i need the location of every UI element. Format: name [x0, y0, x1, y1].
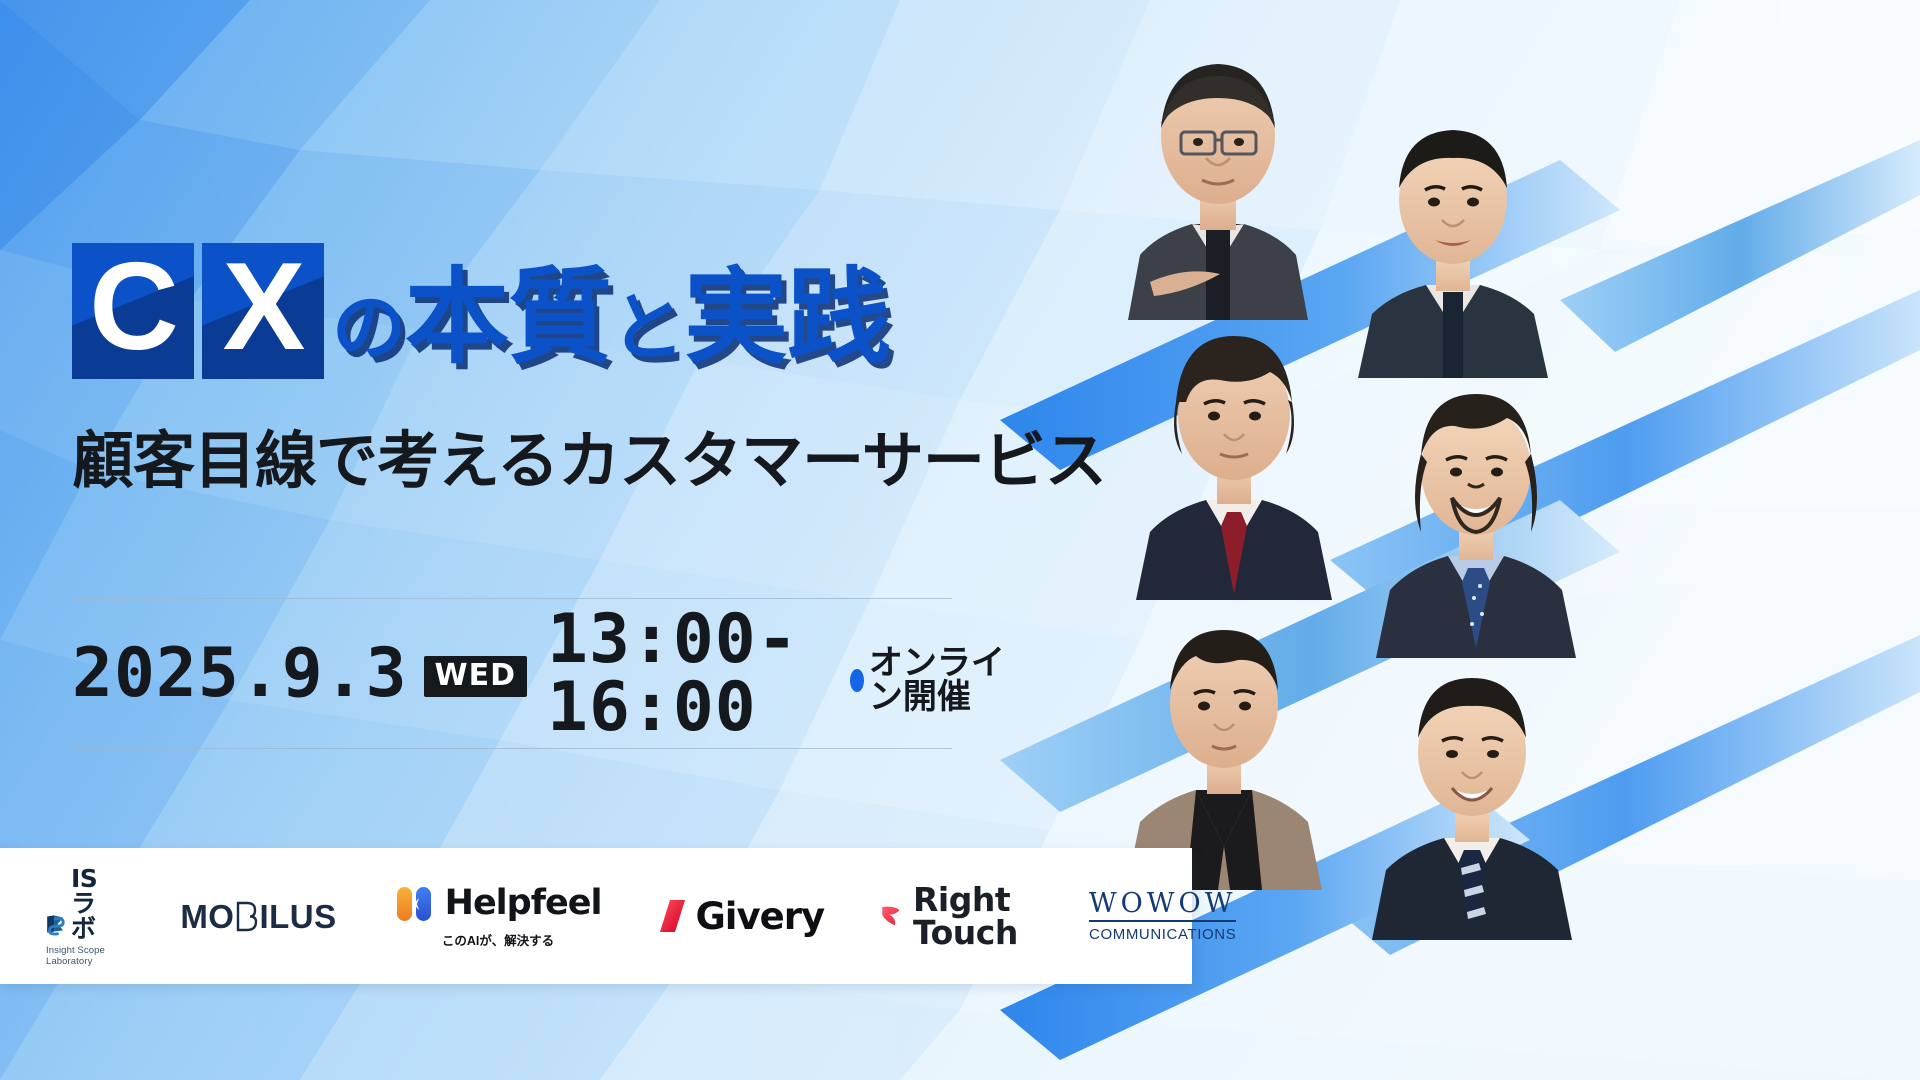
cx-badge-c-letter: C	[89, 245, 177, 369]
logo-islabo-tagline: Insight Scope Laboratory	[46, 945, 114, 967]
weekday-badge: WED	[424, 656, 528, 697]
logo-helpfeel-tagline: このAIが、解決する	[442, 930, 554, 949]
logo-givery: Givery	[659, 898, 824, 935]
speaker-photo-3	[1110, 300, 1360, 600]
speaker-photo-5	[1100, 590, 1350, 890]
islabo-mark-icon	[46, 907, 69, 941]
logo-wowow-text: WOWOW	[1089, 889, 1237, 923]
cx-badge-x-letter: X	[223, 245, 304, 369]
cx-badge-c: C	[72, 243, 194, 379]
banner-content: C X の本質と実践 顧客目線で考えるカスタマーサービス 2025.9.3 WE…	[0, 0, 1010, 1080]
logo-islabo: ISラボ Insight Scope Laboratory	[46, 866, 114, 967]
logo-righttouch: Right Touch	[880, 883, 1035, 949]
righttouch-mark-icon	[880, 896, 903, 936]
sponsor-logo-bar: ISラボ Insight Scope Laboratory MO ILUS	[0, 848, 1192, 984]
bullet-dot-icon	[850, 669, 864, 692]
speaker-photo-4	[1352, 358, 1602, 658]
logo-mobilus-text-c: ILUS	[259, 900, 336, 933]
logo-givery-text: Givery	[695, 898, 824, 935]
title-particle-no: の	[332, 285, 405, 371]
event-time: 13:00-16:00	[547, 606, 824, 742]
logo-mobilus-b-icon	[235, 901, 258, 932]
logo-helpfeel-text: Helpfeel	[445, 886, 602, 921]
speaker-photo-2	[1330, 88, 1580, 378]
event-format: オンライン開催	[850, 646, 1010, 714]
event-format-label: オンライン開催	[869, 646, 1010, 714]
title-word-jissen: 実践	[684, 256, 890, 378]
cx-badge-x: X	[202, 243, 324, 379]
main-title-row: C X の本質と実践	[72, 243, 890, 379]
givery-mark-icon	[659, 899, 686, 933]
logo-mobilus: MO ILUS	[180, 900, 336, 933]
helpfeel-mark-icon	[395, 884, 437, 924]
logo-mobilus-text-a: MO	[180, 900, 234, 933]
logo-islabo-text: ISラボ	[71, 866, 114, 941]
event-datetime-row: 2025.9.3 WED 13:00-16:00 オンライン開催	[72, 620, 1010, 728]
speaker-photo-1	[1088, 20, 1348, 320]
webinar-banner: C X の本質と実践 顧客目線で考えるカスタマーサービス 2025.9.3 WE…	[0, 0, 1920, 1080]
page-subtitle: 顧客目線で考えるカスタマーサービス	[72, 430, 1106, 492]
speaker-photo-6	[1348, 640, 1598, 940]
logo-wowow-subtext: COMMUNICATIONS	[1089, 926, 1236, 943]
logo-righttouch-text: Right Touch	[913, 883, 1035, 949]
page-title: の本質と実践	[332, 243, 890, 369]
logo-wowow: WOWOW COMMUNICATIONS	[1089, 889, 1237, 944]
logo-helpfeel: Helpfeel このAIが、解決する	[395, 884, 602, 949]
divider-top	[72, 598, 952, 599]
event-date: 2025.9.3	[72, 640, 408, 708]
title-particle-to: と	[611, 285, 684, 371]
title-word-honshitsu: 本質	[405, 256, 611, 378]
divider-bottom	[72, 748, 952, 749]
